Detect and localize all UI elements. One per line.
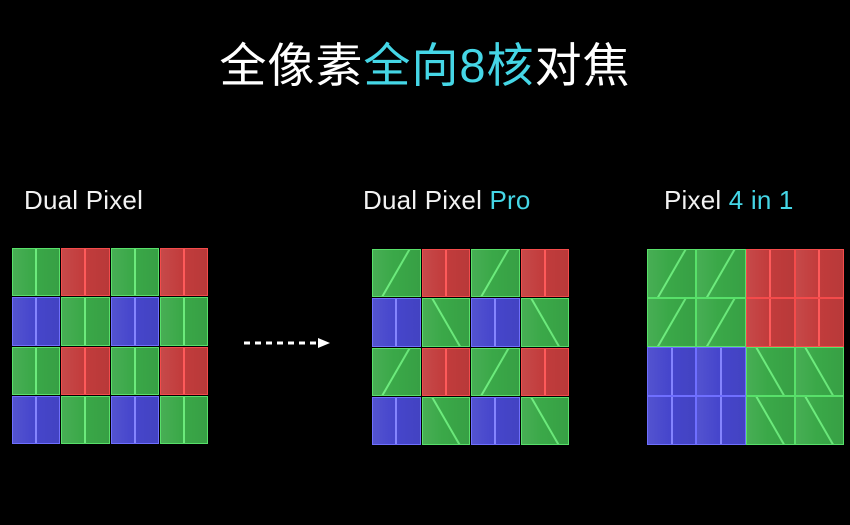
sensor-cell-divider-v: [445, 250, 447, 296]
sensor-cell-divider-d-fwd: [477, 249, 514, 297]
sensor-cell-divider-v: [445, 349, 447, 395]
sensor-cell-divider-v: [494, 299, 496, 345]
sensor-cell-green: [471, 348, 520, 396]
panel-label-main: Dual Pixel: [24, 185, 143, 215]
sensor-cell-red: [422, 249, 471, 297]
sensor-cell-green: [160, 396, 208, 444]
sensor-cell-divider-v: [84, 348, 86, 394]
sensor-cell-blue: [12, 396, 60, 444]
sensor-cell-green: [795, 396, 844, 445]
sensor-cell-blue: [12, 297, 60, 345]
sensor-cell-divider-v: [183, 298, 185, 344]
sensor-cell-divider-v: [84, 397, 86, 443]
sensor-cell-divider-v: [134, 249, 136, 295]
sensor-cell-divider-v: [35, 298, 37, 344]
sensor-cell-red: [521, 348, 570, 396]
sensor-cell-divider-v: [183, 348, 185, 394]
sensor-cell-green: [422, 298, 471, 346]
sensor-cell-divider-v: [671, 348, 673, 395]
sensor-cell-divider-d-fwd: [653, 249, 690, 298]
sensor-cell-divider-v: [35, 348, 37, 394]
sensor-cell-blue: [696, 347, 745, 396]
sensor-cell-blue: [372, 397, 421, 445]
sensor-cell-blue: [696, 396, 745, 445]
arrow-head: [318, 338, 330, 348]
sensor-cell-divider-d-bwd: [752, 347, 789, 396]
slide-title: 全像素全向8核对焦: [0, 36, 850, 96]
sensor-cell-divider-v: [35, 397, 37, 443]
sensor-cell-red: [160, 248, 208, 296]
title-prefix: 全像素: [219, 39, 363, 92]
sensor-cell-green: [647, 298, 696, 347]
sensor-cell-red: [61, 248, 109, 296]
sensor-cell-red: [422, 348, 471, 396]
sensor-cell-blue: [111, 396, 159, 444]
sensor-cell-divider-d-bwd: [752, 396, 789, 445]
panel-label-main: Pixel: [664, 185, 729, 215]
sensor-cell-divider-v: [818, 299, 820, 346]
sensor-cell-green: [372, 249, 421, 297]
sensor-cell-red: [746, 249, 795, 298]
sensor-cell-green: [746, 396, 795, 445]
sensor-cell-green: [160, 297, 208, 345]
sensor-cell-divider-d-fwd: [378, 348, 415, 396]
panel-label-accent: Pro: [489, 185, 530, 215]
sensor-cell-blue: [471, 298, 520, 346]
sensor-cell-green: [647, 249, 696, 298]
sensor-cell-divider-d-bwd: [801, 347, 838, 396]
sensor-cell-red: [521, 249, 570, 297]
sensor-cell-red: [61, 347, 109, 395]
panel-label-accent: 4 in 1: [729, 185, 794, 215]
sensor-cell-divider-v: [769, 250, 771, 297]
sensor-cell-divider-d-bwd: [801, 396, 838, 445]
sensor-cell-blue: [647, 347, 696, 396]
sensor-cell-red: [160, 347, 208, 395]
sensor-cell-divider-v: [544, 349, 546, 395]
sensor-cell-divider-d-bwd: [427, 298, 464, 346]
sensor-cell-divider-v: [134, 348, 136, 394]
sensor-cell-green: [795, 347, 844, 396]
sensor-cell-divider-v: [183, 397, 185, 443]
sensor-cell-green: [12, 347, 60, 395]
sensor-cell-divider-v: [35, 249, 37, 295]
sensor-cell-divider-v: [720, 397, 722, 444]
presentation-slide: 全像素全向8核对焦 Dual Pixel Dual Pixel Pro Pixe…: [0, 0, 850, 525]
sensor-cell-divider-v: [769, 299, 771, 346]
title-accent: 全向8核: [363, 39, 534, 92]
sensor-cell-green: [696, 249, 745, 298]
panel-label-dual-pixel-pro: Dual Pixel Pro: [363, 185, 531, 215]
sensor-cell-green: [746, 347, 795, 396]
sensor-cell-blue: [111, 297, 159, 345]
sensor-cell-divider-d-fwd: [702, 298, 739, 347]
sensor-cell-divider-v: [720, 348, 722, 395]
panel-label-pixel-4in1: Pixel 4 in 1: [664, 185, 794, 215]
sensor-cell-divider-v: [134, 298, 136, 344]
sensor-cell-divider-d-fwd: [653, 298, 690, 347]
sensor-cell-divider-d-fwd: [702, 249, 739, 298]
sensor-cell-green: [471, 249, 520, 297]
sensor-cell-green: [111, 248, 159, 296]
sensor-cell-divider-v: [671, 397, 673, 444]
sensor-cell-divider-d-bwd: [526, 298, 563, 346]
sensor-cell-green: [61, 297, 109, 345]
sensor-cell-divider-v: [183, 249, 185, 295]
panel-label-dual-pixel: Dual Pixel: [24, 185, 143, 215]
sensor-cell-divider-v: [134, 397, 136, 443]
title-suffix: 对焦: [535, 39, 631, 92]
sensor-cell-blue: [372, 298, 421, 346]
sensor-cell-red: [795, 298, 844, 347]
sensor-cell-divider-d-bwd: [526, 397, 563, 445]
sensor-cell-divider-v: [84, 298, 86, 344]
sensor-grid-pixel-4in1: [647, 249, 844, 445]
sensor-cell-divider-v: [494, 398, 496, 444]
sensor-cell-divider-v: [395, 398, 397, 444]
sensor-cell-red: [746, 298, 795, 347]
sensor-cell-green: [111, 347, 159, 395]
sensor-cell-blue: [647, 396, 696, 445]
sensor-cell-divider-v: [395, 299, 397, 345]
dashed-right-arrow-icon: [244, 337, 332, 349]
sensor-cell-green: [696, 298, 745, 347]
sensor-grid-dual-pixel-pro: [372, 249, 569, 445]
sensor-cell-red: [795, 249, 844, 298]
sensor-cell-green: [521, 298, 570, 346]
sensor-cell-green: [422, 397, 471, 445]
sensor-cell-green: [372, 348, 421, 396]
sensor-cell-divider-v: [84, 249, 86, 295]
sensor-cell-divider-d-bwd: [427, 397, 464, 445]
sensor-cell-divider-d-fwd: [477, 348, 514, 396]
sensor-grid-dual-pixel: [12, 248, 208, 444]
sensor-cell-divider-v: [818, 250, 820, 297]
sensor-cell-green: [12, 248, 60, 296]
sensor-cell-green: [61, 396, 109, 444]
sensor-cell-divider-d-fwd: [378, 249, 415, 297]
sensor-cell-blue: [471, 397, 520, 445]
panel-label-main: Dual Pixel: [363, 185, 489, 215]
sensor-cell-divider-v: [544, 250, 546, 296]
sensor-cell-green: [521, 397, 570, 445]
